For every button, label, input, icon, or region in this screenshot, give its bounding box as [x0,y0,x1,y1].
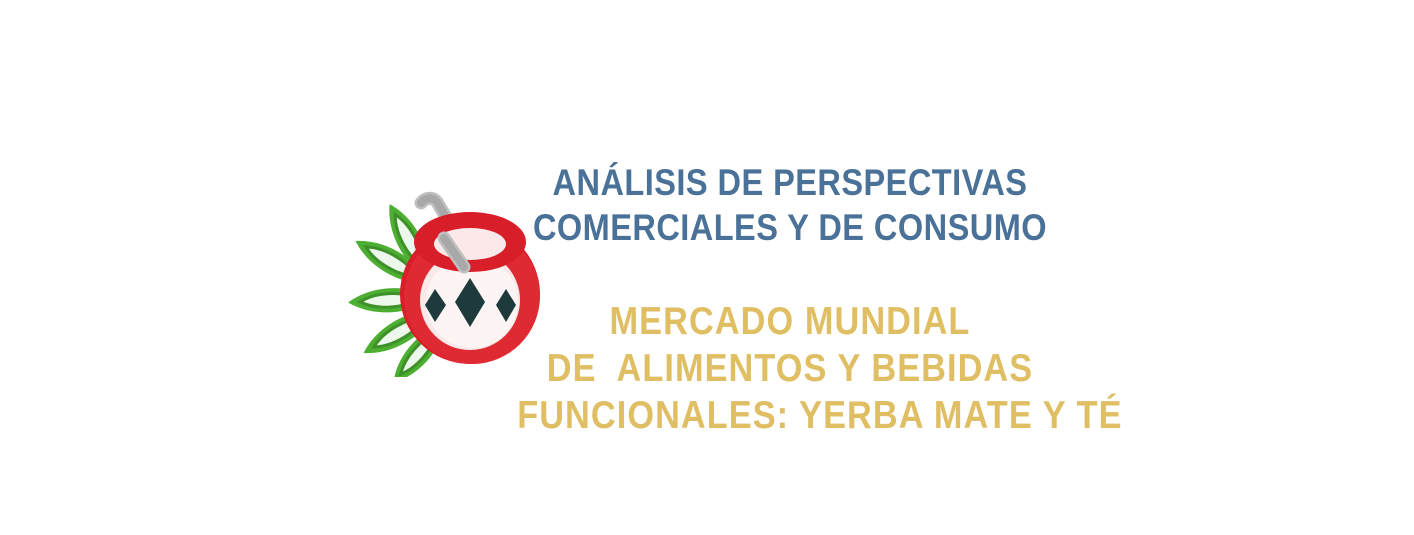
slide-canvas: ANÁLISIS DE PERSPECTIVAS COMERCIALES Y D… [0,0,1414,535]
main-title-line-1: ANÁLISIS DE PERSPECTIVAS [517,160,1063,205]
subtitle-line-1: MERCADO MUNDIAL [517,298,1063,345]
subtitle-line-2: DE ALIMENTOS Y BEBIDAS [517,345,1063,392]
main-title: ANÁLISIS DE PERSPECTIVAS COMERCIALES Y D… [480,160,1100,250]
title-text-block: ANÁLISIS DE PERSPECTIVAS COMERCIALES Y D… [480,160,1100,439]
subtitle-line-3: FUNCIONALES: YERBA MATE Y TÉ [517,392,1063,439]
subtitle: MERCADO MUNDIAL DE ALIMENTOS Y BEBIDAS F… [480,298,1100,439]
main-title-line-2: COMERCIALES Y DE CONSUMO [517,205,1063,250]
